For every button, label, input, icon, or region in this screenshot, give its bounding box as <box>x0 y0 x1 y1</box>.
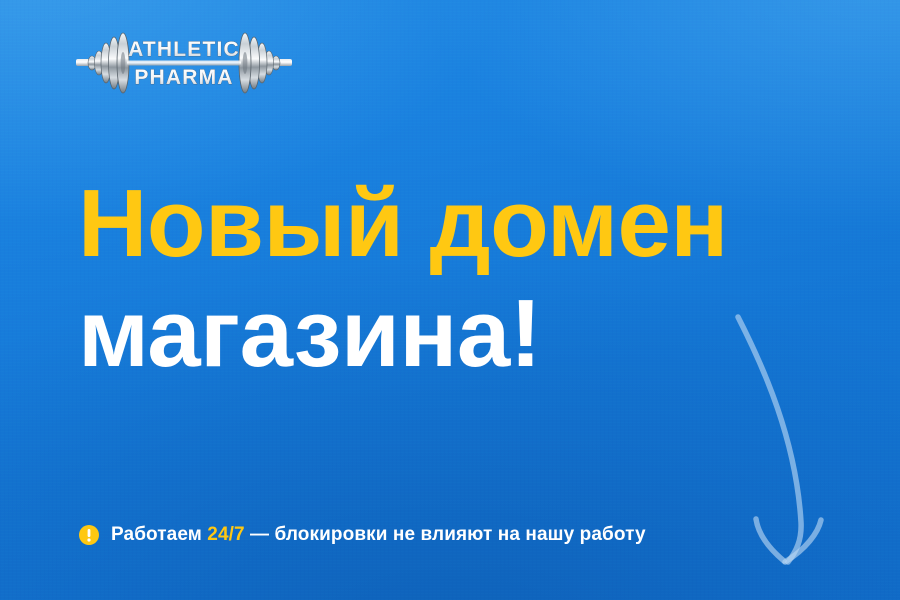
logo-line1: ATHLETIC <box>128 38 240 61</box>
footnote-text: Работаем 24/7 — блокировки не влияют на … <box>111 524 646 546</box>
barbell-icon: ATHLETIC PHARMA <box>72 28 296 98</box>
headline: Новый домен магазина! <box>78 178 838 380</box>
footnote-text-after: — блокировки не влияют на нашу работу <box>245 524 646 545</box>
exclamation-circle-icon <box>78 524 100 546</box>
logo-line2: PHARMA <box>134 66 233 89</box>
headline-line-1: Новый домен <box>78 178 838 270</box>
athletic-pharma-logo[interactable]: ATHLETIC PHARMA <box>72 28 296 98</box>
promo-banner: ATHLETIC PHARMA Новый домен магазина! Ра… <box>0 0 900 600</box>
footnote: Работаем 24/7 — блокировки не влияют на … <box>78 524 646 546</box>
footnote-text-before: Работаем <box>111 524 207 545</box>
headline-line-2: магазина! <box>78 288 838 380</box>
footnote-highlight: 24/7 <box>207 524 244 545</box>
